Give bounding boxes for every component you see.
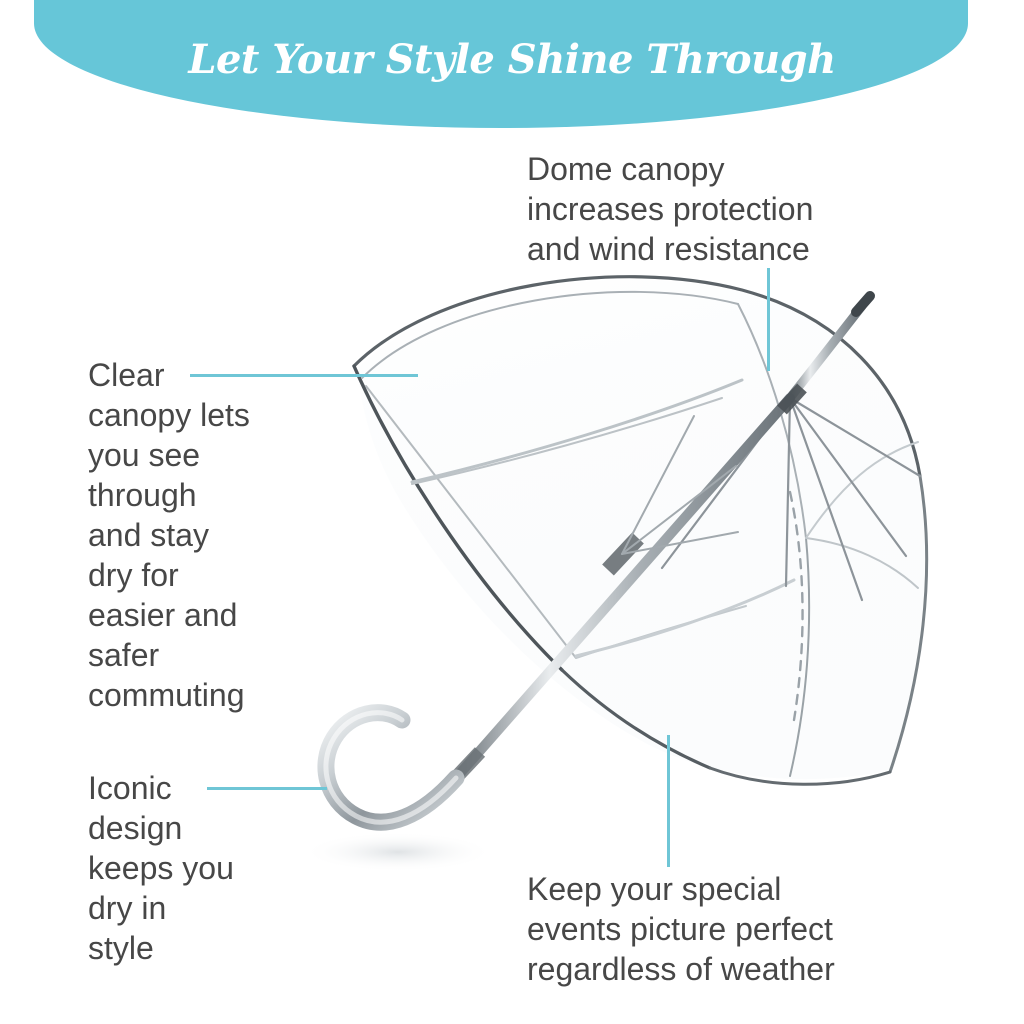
handle-reflection bbox=[302, 832, 494, 872]
umbrella-illustration bbox=[290, 270, 940, 880]
page-title: Let Your Style Shine Through bbox=[0, 36, 1024, 83]
infographic-page: Let Your Style Shine Through bbox=[0, 0, 1024, 1024]
callout-dome-canopy: Dome canopy increases protection and win… bbox=[527, 149, 813, 269]
canopy-dome bbox=[358, 280, 925, 779]
connector-line-events bbox=[667, 735, 670, 867]
umbrella-handle bbox=[326, 713, 456, 823]
callout-special-events: Keep your special events picture perfect… bbox=[527, 869, 835, 989]
callout-iconic-design: Iconic design keeps you dry in style bbox=[88, 768, 298, 968]
connector-line-dome bbox=[767, 268, 770, 371]
callout-clear-canopy: Clear canopy lets you see through and st… bbox=[88, 355, 328, 715]
